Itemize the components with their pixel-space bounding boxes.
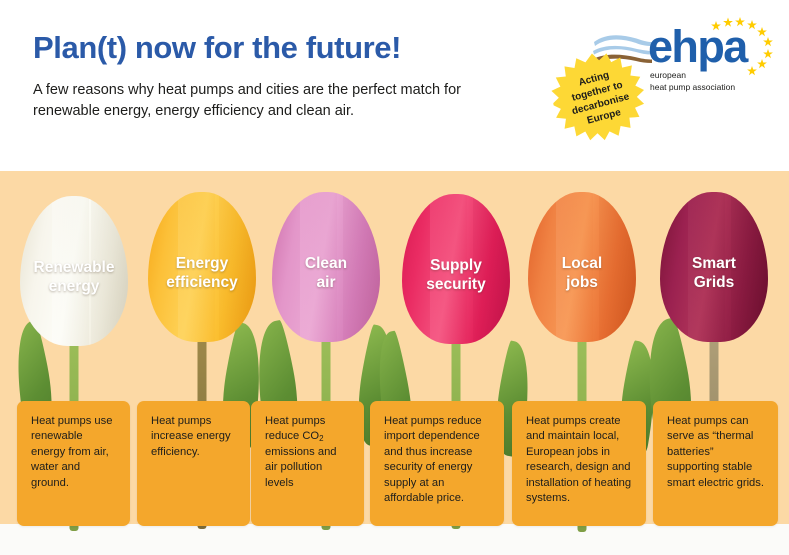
tulip-label-line2: energy — [20, 277, 128, 296]
tulip-label-line1: Local — [528, 254, 636, 273]
fact-box-smart-grids: Heat pumps can serve as “thermal batteri… — [653, 401, 778, 526]
tulip-label-line1: Renewable — [20, 258, 128, 277]
fact-box-supply-security: Heat pumps reduce import dependence and … — [370, 401, 504, 526]
fact-text-subscript: 2 — [319, 434, 323, 443]
fact-box-clean-air: Heat pumps reduce CO2 emissions and air … — [251, 401, 364, 526]
fact-box-energy-efficiency: Heat pumps increase energy efficiency. — [137, 401, 250, 526]
fact-text-pre: Heat pumps reduce CO — [265, 415, 325, 442]
fact-text: Heat pumps can serve as “thermal batteri… — [667, 415, 764, 489]
tulip-label-line1: Clean — [272, 254, 380, 273]
fact-text: Heat pumps create and maintain local, Eu… — [526, 415, 631, 504]
fact-text-post: emissions and air pollution levels — [265, 446, 337, 489]
fact-box-local-jobs: Heat pumps create and maintain local, Eu… — [512, 401, 646, 526]
tulip-label-line2: jobs — [528, 273, 636, 292]
tulip-label: Energy efficiency — [148, 254, 256, 292]
fact-text: Heat pumps increase energy efficiency. — [151, 415, 231, 458]
page-subtitle: A few reasons why heat pumps and cities … — [33, 80, 503, 122]
tulip-label-line1: Energy — [148, 254, 256, 273]
tulip-label-line1: Supply — [402, 256, 510, 275]
fact-box-renewable-energy: Heat pumps use renewable energy from air… — [17, 401, 130, 526]
page-title: Plan(t) now for the future! — [33, 30, 401, 66]
tulip-label-line2: Grids — [660, 273, 768, 292]
tulip-label: Local jobs — [528, 254, 636, 292]
tulip-label-line2: efficiency — [148, 273, 256, 292]
tulip-label: Supply security — [402, 256, 510, 294]
tulip-label: Renewable energy — [20, 258, 128, 296]
tulip-label: Clean air — [272, 254, 380, 292]
decarbonise-badge: Acting together to decarbonise Europe — [546, 45, 651, 150]
tulip-label-line1: Smart — [660, 254, 768, 273]
tulip-label: Smart Grids — [660, 254, 768, 292]
fact-text: Heat pumps use renewable energy from air… — [31, 415, 112, 489]
logo-tagline-line2: heat pump association — [650, 82, 735, 94]
tulip-label-line2: air — [272, 273, 380, 292]
panel-bottom-strip — [0, 524, 789, 555]
eu-stars-icon — [710, 16, 786, 82]
fact-text: Heat pumps reduce import dependence and … — [384, 415, 482, 504]
header: Plan(t) now for the future! A few reason… — [0, 0, 789, 171]
tulip-label-line2: security — [402, 275, 510, 294]
infographic-page: Plan(t) now for the future! A few reason… — [0, 0, 789, 555]
